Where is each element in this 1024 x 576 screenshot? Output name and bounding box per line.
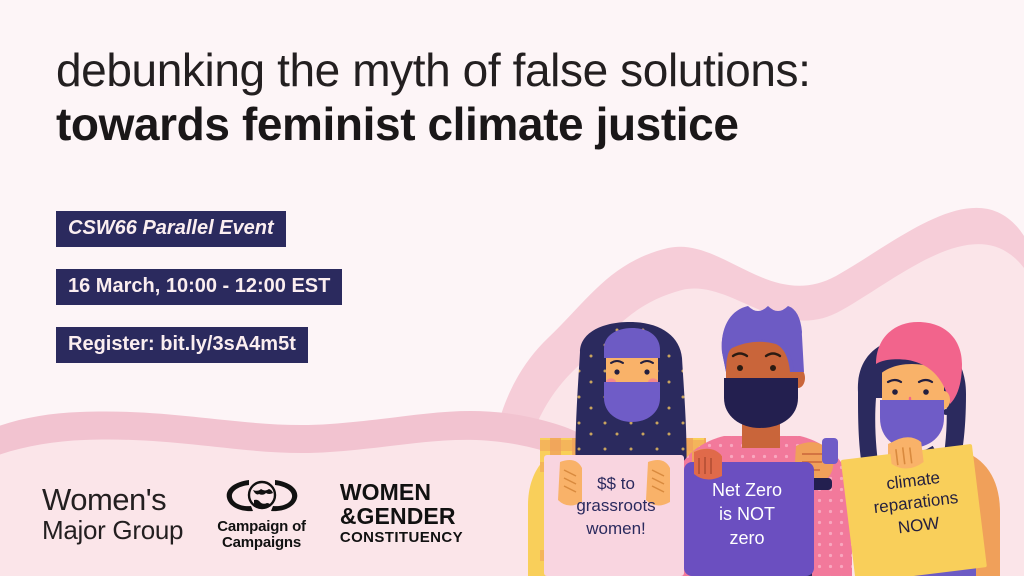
logo-wmg-line2: Major Group [42,517,183,543]
logo-wgc-line2: &GENDER [340,505,456,528]
event-info-badges: CSW66 Parallel Event 16 March, 10:00 - 1… [56,211,342,385]
logo-campaign-of-campaigns: Campaign of Campaigns [217,476,306,551]
badge-register-link[interactable]: Register: bit.ly/3sA4m5t [56,327,308,363]
logo-coc-line2: Campaigns [217,535,306,551]
logo-wgc-line3: CONSTITUENCY [340,530,463,545]
logo-women-major-group: Women's Major Group [42,484,183,543]
logo-wmg-line1: Women's [42,484,166,515]
title-line-1: debunking the myth of false solutions: [56,44,986,96]
page-title: debunking the myth of false solutions: t… [56,44,986,153]
event-poster: debunking the myth of false solutions: t… [0,0,1024,576]
logo-wgc-line1: WOMEN [340,481,431,504]
sign-net-zero-board [684,462,814,576]
title-line-2: towards feminist climate justice [56,96,986,152]
logo-women-gender-constituency: WOMEN &GENDER CONSTITUENCY [340,481,463,545]
partner-logos: Women's Major Group Campaign of Campaign… [42,476,463,551]
figure-center-eye-right [770,365,776,371]
figure-left-hand-left-front [558,460,582,506]
badge-datetime: 16 March, 10:00 - 12:00 EST [56,269,342,305]
figure-right-eye-right [923,389,929,395]
figure-right-eye-left [892,389,898,395]
logo-coc-line1: Campaign of [217,519,306,535]
figure-center-eye-left [737,365,743,371]
figure-center-sleeve-cuff [822,438,838,464]
badge-event-type: CSW66 Parallel Event [56,211,286,247]
figure-left-eye-left [614,369,619,374]
figure-left-hand-right-front [646,460,670,506]
figure-center-mask [724,378,798,428]
sign-net-zero [684,449,814,576]
globe-brushstroke-icon [223,476,301,516]
figure-left-eye-right [644,369,649,374]
